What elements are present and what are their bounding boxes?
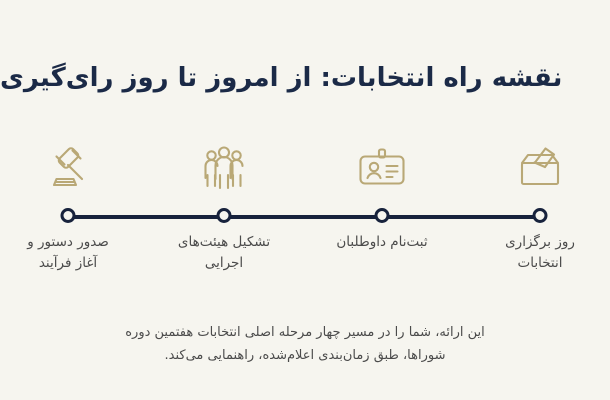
timeline-dot-2[interactable] bbox=[217, 208, 232, 223]
timeline-label-2-line1: تشکیل هیئت‌های bbox=[149, 232, 299, 253]
timeline-label-3: ثبت‌نام داوطلبان bbox=[307, 232, 457, 253]
timeline-dot-3[interactable] bbox=[375, 208, 390, 223]
slide-canvas: نقشه راه انتخابات: از امروز تا روز رای‌گ… bbox=[0, 0, 610, 400]
timeline-label-1-line1: صدور دستور و bbox=[0, 232, 143, 253]
timeline-label-2: تشکیل هیئت‌های اجرایی bbox=[149, 232, 299, 274]
title-row: نقشه راه انتخابات: از امروز تا روز رای‌گ… bbox=[0, 56, 610, 100]
timeline-label-1-line2: آغاز فرآیند bbox=[0, 253, 143, 274]
timeline-label-2-line2: اجرایی bbox=[149, 253, 299, 274]
footer-note-line1: این ارائه، شما را در مسیر چهار مرحله اصل… bbox=[105, 322, 505, 345]
timeline-label-3-line1: ثبت‌نام داوطلبان bbox=[307, 232, 457, 253]
timeline: صدور دستور و آغاز فرآیند bbox=[0, 140, 610, 290]
timeline-dot-1[interactable] bbox=[61, 208, 76, 223]
timeline-label-4: روز برگزاری انتخابات bbox=[465, 232, 610, 274]
group-people-icon bbox=[196, 142, 252, 194]
footer-note-line2: شوراها، طبق زمان‌بندی اعلام‌شده، راهنمای… bbox=[105, 345, 505, 368]
footer-note: این ارائه، شما را در مسیر چهار مرحله اصل… bbox=[105, 322, 505, 368]
gavel-icon bbox=[40, 142, 96, 194]
timeline-step-1[interactable]: صدور دستور و آغاز فرآیند bbox=[0, 140, 143, 290]
ballot-box-icon bbox=[512, 142, 568, 194]
page-title: نقشه راه انتخابات: از امروز تا روز رای‌گ… bbox=[0, 62, 562, 95]
timeline-step-3[interactable]: ثبت‌نام داوطلبان bbox=[307, 140, 457, 290]
timeline-dot-4[interactable] bbox=[533, 208, 548, 223]
timeline-label-4-line2: انتخابات bbox=[465, 253, 610, 274]
id-card-icon bbox=[354, 142, 410, 194]
timeline-step-2[interactable]: تشکیل هیئت‌های اجرایی bbox=[149, 140, 299, 290]
timeline-label-4-line1: روز برگزاری bbox=[465, 232, 610, 253]
timeline-step-4[interactable]: روز برگزاری انتخابات bbox=[465, 140, 610, 290]
timeline-label-1: صدور دستور و آغاز فرآیند bbox=[0, 232, 143, 274]
